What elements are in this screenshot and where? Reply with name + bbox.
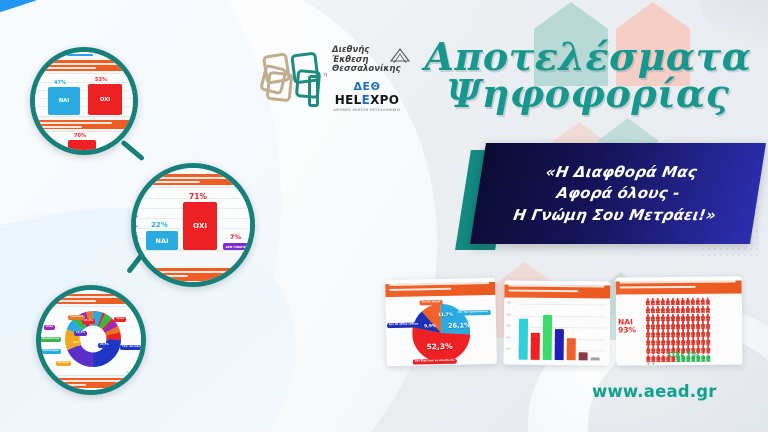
pictogram-person-icon (696, 314, 700, 321)
pictogram-person-icon (676, 306, 680, 313)
pictogram-person-icon (706, 298, 710, 305)
pictogram-person-icon (681, 322, 685, 329)
pictogram-person-icon (706, 322, 710, 329)
pictogram-person-icon (661, 330, 665, 337)
pictogram-person-icon (656, 298, 660, 305)
pictogram-person-icon (686, 298, 690, 305)
pictogram-person-icon (646, 355, 650, 362)
pictogram-person-icon (671, 322, 675, 329)
pictogram-person-icon (706, 314, 710, 321)
magnifier-chart-3[interactable]: 25,5% 24,5% 18,5% 12% Υγεία Τοπ. Αυτοδιο… (36, 285, 146, 395)
pictogram-person-icon (681, 338, 685, 345)
quote-line-3: Η Γνώμη Σου Μετράει!» (512, 205, 718, 226)
thumbnail-1-body: 26,1% 52,3% 11,7% 9,9% Δεν έχω εμπιστοσύ… (385, 295, 496, 366)
pictogram-person-icon (646, 314, 650, 321)
pictogram-person-icon (696, 298, 700, 305)
pictogram-person-icon (696, 338, 700, 345)
pictogram-person-icon (686, 330, 690, 337)
quote-line-2: Αφορά όλους - (555, 183, 681, 204)
logo-ribbon-icon (389, 47, 411, 65)
pictogram-person-icon (656, 322, 660, 329)
pictogram-person-icon (691, 314, 695, 321)
pictogram-person-icon (666, 298, 670, 305)
pictogram-person-icon (666, 314, 670, 321)
pictogram-person-icon (686, 314, 690, 321)
poster-canvas: Διεθνής Έκθεση Θεσσαλονίκης η ΔΕΘ HELEXP… (0, 0, 768, 432)
pictogram-person-icon (666, 306, 670, 313)
pictogram-person-icon (706, 354, 710, 361)
thumbnail-chart-bars[interactable]: 500 400 300 200 100 (504, 280, 611, 365)
pictogram-person-icon (691, 330, 695, 337)
pictogram-person-icon (691, 338, 695, 345)
pictogram-person-icon (701, 322, 705, 329)
pictogram-person-icon (706, 346, 710, 353)
pictogram-person-icon (701, 306, 705, 313)
quote-text: «Η Διαφθορά Μας Αφορά όλους - Η Γνώμη Σο… (475, 151, 761, 237)
pictogram-person-icon (656, 355, 660, 362)
quote-line-1: «Η Διαφθορά Μας (544, 162, 698, 183)
thumbnail-chart-pie[interactable]: 26,1% 52,3% 11,7% 9,9% Δεν έχω εμπιστοσύ… (385, 278, 497, 366)
logo-ordinal: η (324, 72, 327, 78)
pictogram-person-icon (686, 322, 690, 329)
pictogram-person-icon (661, 314, 665, 321)
pictogram-person-icon (706, 330, 710, 337)
pictogram-person-icon (666, 322, 670, 329)
logo-brand-block: ΔΕΘ HELEXPO ΔΙΕΘΝΗΣ ΕΚΘΕΣΗ ΘΕΣΣΑΛΟΝΙΚΗΣ (326, 80, 408, 112)
pictogram-person-icon (676, 330, 680, 337)
pictogram-person-icon (666, 330, 670, 337)
pictogram-person-icon (676, 314, 680, 321)
pictogram-person-icon (676, 298, 680, 305)
pictogram-person-icon (656, 314, 660, 321)
logo-brand-helexpo: HELEXPO (326, 93, 408, 107)
logo-mark-89-icon (262, 50, 328, 110)
website-url[interactable]: www.aead.gr (592, 382, 717, 401)
pictogram-person-icon (701, 338, 705, 345)
pictogram-person-icon (646, 298, 650, 305)
thumbnail-3-body: ΝΑΙ 93% ΟΧΙ 7% (616, 293, 743, 365)
pictogram-person-icon (651, 298, 655, 305)
page-title-line-2: Ψηφοφορίας (420, 75, 756, 112)
pictogram-person-icon (701, 298, 705, 305)
pictogram-person-icon (661, 355, 665, 362)
pictogram-person-icon (671, 314, 675, 321)
pictogram-person-icon (681, 330, 685, 337)
logo-brand-tagline: ΔΙΕΘΝΗΣ ΕΚΘΕΣΗ ΘΕΣΣΑΛΟΝΙΚΗΣ (326, 108, 408, 112)
pictogram-person-icon (656, 306, 660, 313)
pictogram-person-icon (671, 338, 675, 345)
pictogram-person-icon (696, 306, 700, 313)
page-title: Αποτελέσματα Ψηφοφορίας (420, 38, 756, 112)
pictogram-person-icon (696, 322, 700, 329)
pictogram-person-icon (681, 298, 685, 305)
pictogram-person-icon (661, 306, 665, 313)
pictogram-person-icon (701, 354, 705, 361)
magnifier-chart-2[interactable]: ● ● ● ● ● ΝΑΙ 22% ΟΧΙ 71% ΔΕΝ ΓΝΩΡΙΖΩ 7% (131, 163, 255, 287)
logo-brand-deth: ΔΕΘ (326, 80, 408, 93)
deth-helexpo-logo: Διεθνής Έκθεση Θεσσαλονίκης η ΔΕΘ HELEXP… (262, 46, 408, 130)
pictogram-label-nai: ΝΑΙ 93% (618, 318, 636, 334)
pictogram-person-icon (686, 338, 690, 345)
pictogram-person-icon (691, 298, 695, 305)
pictogram-person-icon (706, 306, 710, 313)
pictogram-person-icon (651, 314, 655, 321)
logo-line-3: Θεσσαλονίκης (332, 65, 408, 75)
pictogram-person-icon (676, 338, 680, 345)
pictogram-person-icon (706, 338, 710, 345)
thumbnail-2-body: 500 400 300 200 100 (504, 297, 611, 365)
pictogram-person-icon (671, 330, 675, 337)
pictogram-person-icon (681, 306, 685, 313)
pictogram-person-icon (661, 322, 665, 329)
pictogram-person-icon (691, 306, 695, 313)
pictogram-person-icon (651, 306, 655, 313)
pictogram-person-icon (696, 330, 700, 337)
pictogram-person-icon (671, 298, 675, 305)
pictogram-person-icon (671, 306, 675, 313)
thumbnail-chart-pictogram[interactable]: ΝΑΙ 93% ΟΧΙ 7% (616, 276, 743, 365)
pictogram-person-icon (701, 314, 705, 321)
pictogram-person-icon (681, 314, 685, 321)
magnifier-chart-1[interactable]: 6 4 2 0 ΝΑΙ 47% ΟΧΙ 53% 70% (30, 47, 138, 155)
pictogram-person-icon (646, 306, 650, 313)
pictogram-label-oxi: ΟΧΙ 7% (668, 350, 698, 359)
pictogram-person-icon (676, 322, 680, 329)
pictogram-person-icon (661, 298, 665, 305)
pictogram-person-icon (701, 330, 705, 337)
pictogram-person-icon (651, 355, 655, 362)
pictogram-person-icon (686, 306, 690, 313)
pictogram-person-icon (691, 322, 695, 329)
pictogram-person-icon (701, 346, 705, 353)
